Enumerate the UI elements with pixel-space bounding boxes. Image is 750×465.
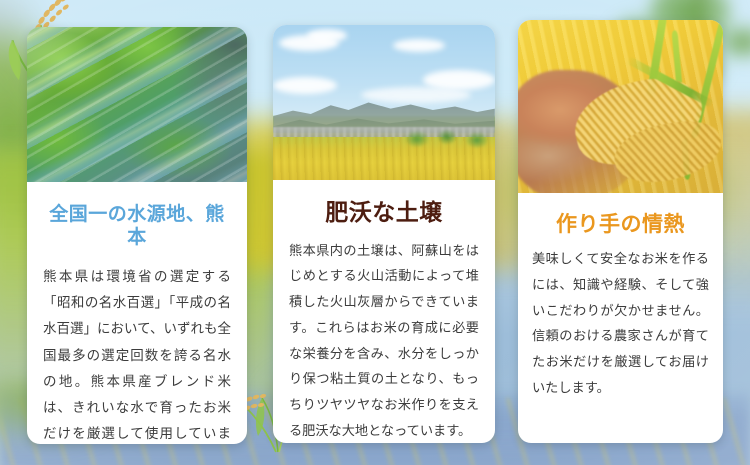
- feature-card-water-source[interactable]: 全国一の水源地、熊本 熊本県は環境省の選定する「昭和の名水百選」「平成の名水百選…: [27, 27, 247, 444]
- cloud-shape: [307, 29, 347, 42]
- card-text-fertile-soil: 熊本県内の土壌は、阿蘇山をはじめとする火山活動によって堆積した火山灰層からできて…: [289, 238, 479, 443]
- card-photo-water-source: [27, 27, 247, 182]
- feature-card-growers-passion[interactable]: 作り手の情熱 美味しくて安全なお米を作るには、知識や経験、そして強いこだわりが欠…: [518, 20, 723, 443]
- cloud-shape: [361, 87, 471, 103]
- tree-cluster: [401, 125, 495, 151]
- card-body-fertile-soil: 肥沃な土壌 熊本県内の土壌は、阿蘇山をはじめとする火山活動によって堆積した火山灰…: [273, 199, 495, 443]
- feature-card-fertile-soil[interactable]: 肥沃な土壌 熊本県内の土壌は、阿蘇山をはじめとする火山活動によって堆積した火山灰…: [273, 25, 495, 443]
- card-title-water-source: 全国一の水源地、熊本: [43, 204, 231, 250]
- card-photo-fertile-soil: [273, 25, 495, 180]
- card-body-water-source: 全国一の水源地、熊本 熊本県は環境省の選定する「昭和の名水百選」「平成の名水百選…: [27, 204, 247, 444]
- cloud-shape: [393, 39, 445, 52]
- card-text-growers-passion: 美味しくて安全なお米を作るには、知識や経験、そして強いこだわりが欠かせません。信…: [532, 246, 709, 400]
- card-photo-growers-passion: [518, 20, 723, 193]
- photo-hand-rice-ears-icon: [518, 20, 723, 193]
- photo-aso-mountains-icon: [273, 25, 495, 180]
- card-title-fertile-soil: 肥沃な土壌: [289, 199, 479, 227]
- photo-mossy-spring-water-icon: [27, 27, 247, 182]
- promo-banner: 全国一の水源地、熊本 熊本県は環境省の選定する「昭和の名水百選」「平成の名水百選…: [0, 0, 750, 465]
- card-text-water-source: 熊本県は環境省の選定する「昭和の名水百選」「平成の名水百選」において、いずれも全…: [43, 264, 231, 444]
- card-body-growers-passion: 作り手の情熱 美味しくて安全なお米を作るには、知識や経験、そして強いこだわりが欠…: [518, 212, 723, 401]
- card-title-growers-passion: 作り手の情熱: [532, 212, 709, 237]
- cloud-shape: [273, 77, 337, 94]
